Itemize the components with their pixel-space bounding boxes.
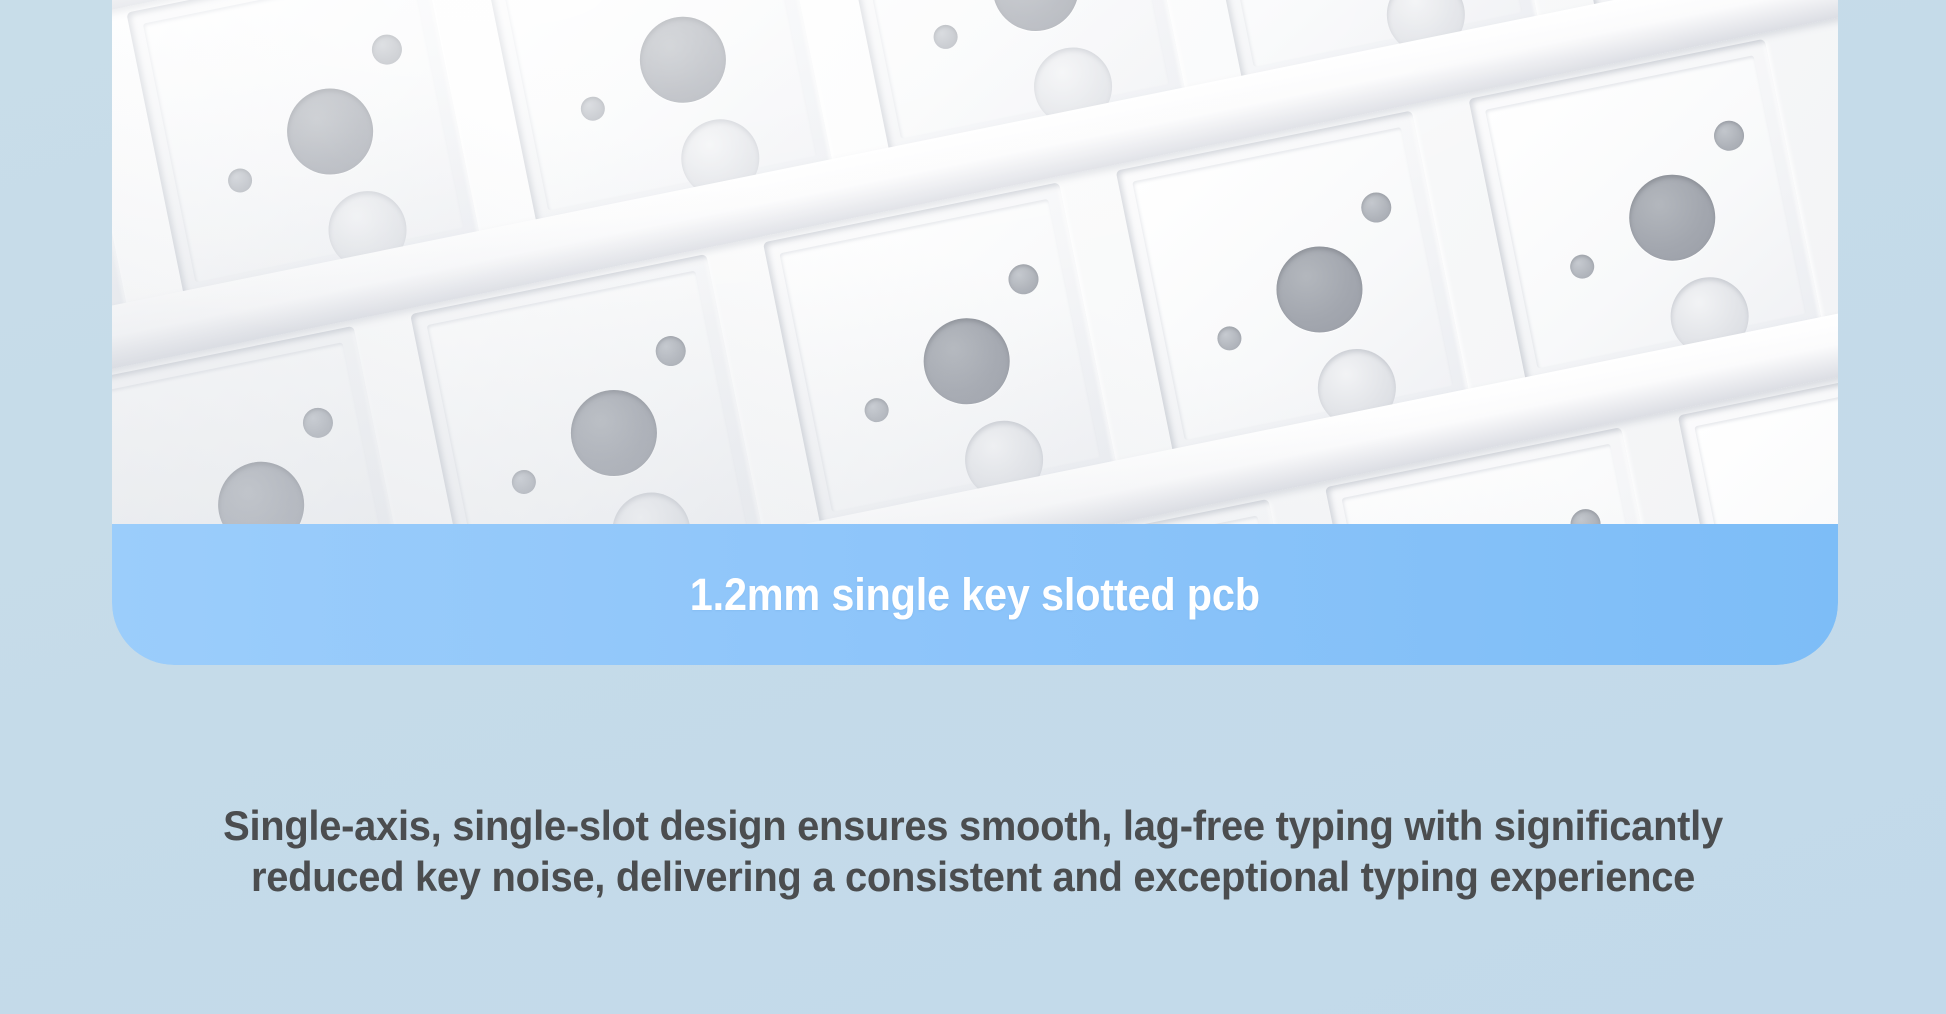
switch-stem-hole	[632, 9, 733, 110]
pin-hole-upper-right	[1567, 507, 1602, 524]
pcb-plate	[112, 0, 1838, 524]
pin-hole-upper-right	[1005, 262, 1040, 297]
pin-hole-left	[863, 396, 891, 424]
led-hole	[605, 485, 697, 524]
pin-hole-left	[1216, 324, 1244, 352]
caption-line-2: reduced key noise, delivering a consiste…	[87, 851, 1860, 902]
feature-caption: Single-axis, single-slot design ensures …	[49, 800, 1898, 902]
pin-hole-upper-right	[1711, 118, 1746, 153]
switch-stem-hole	[916, 310, 1017, 411]
banner: 1.2mm single key slotted pcb	[112, 524, 1838, 665]
pin-hole-left	[579, 95, 607, 123]
caption-line-1: Single-axis, single-slot design ensures …	[87, 800, 1860, 851]
pin-hole-left	[510, 468, 538, 496]
banner-title: 1.2mm single key slotted pcb	[690, 572, 1260, 617]
pin-hole-upper-right	[653, 333, 688, 368]
pin-hole-upper-right	[1358, 190, 1393, 225]
pin-hole-left	[932, 23, 960, 51]
switch-stem-hole	[1831, 484, 1838, 524]
pin-hole-left	[226, 166, 254, 194]
pcb-feature-card: 1.2mm single key slotted pcb	[112, 0, 1838, 665]
pin-hole-upper-right	[369, 32, 404, 67]
pin-hole-left	[1569, 253, 1597, 281]
switch-stem-hole	[1269, 239, 1370, 340]
switch-stem-hole	[985, 0, 1086, 39]
pin-hole-upper-right	[300, 405, 335, 440]
switch-stem-hole	[210, 454, 311, 524]
switch-stem-hole	[279, 81, 380, 182]
switch-stem-hole	[563, 382, 664, 483]
pcb-photo	[112, 0, 1838, 524]
switch-stem-hole	[1621, 167, 1722, 268]
